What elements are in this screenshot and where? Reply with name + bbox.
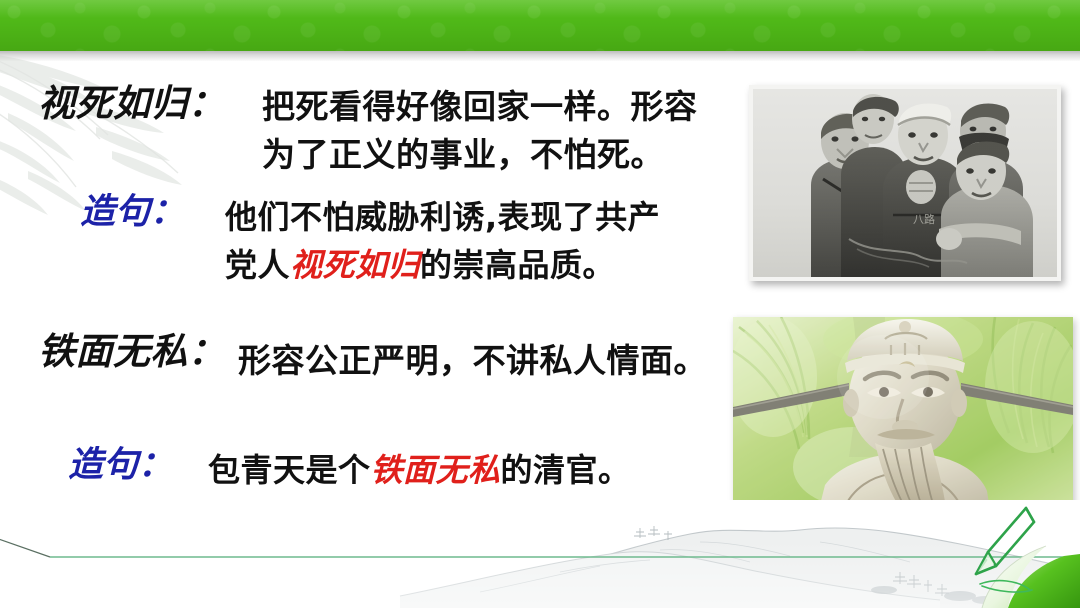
- example-2-highlight-idiom: 铁面无私: [371, 451, 501, 489]
- example-1-text-c: 表现了共产: [498, 198, 661, 236]
- banner-shine: [0, 0, 1080, 18]
- example-sentence-1-line-1: 他们不怕威胁利诱,表现了共产: [225, 192, 660, 242]
- example-label-2: 造句：: [68, 443, 173, 487]
- slide-root: 视死如归： 把死看得好像回家一样。形容 为了正义的事业，不怕死。 造句： 他们不…: [0, 0, 1080, 608]
- top-green-banner: [0, 0, 1080, 51]
- idiom-term-1: 视死如归：: [38, 82, 226, 126]
- example-1-text-a: 他们不怕威胁利诱: [225, 198, 485, 236]
- example-1-comma: ,: [485, 198, 498, 236]
- example-1-text-d: 党人: [225, 246, 290, 284]
- example-1-highlight-idiom: 视死如归: [290, 246, 420, 284]
- idiom-definition-2: 形容公正严明，不讲私人情面。: [238, 336, 707, 386]
- example-2-text-b: 的清官。: [501, 451, 631, 489]
- example-sentence-2: 包青天是个铁面无私的清官。: [208, 445, 631, 495]
- example-2-text-a: 包青天是个: [208, 451, 371, 489]
- example-1-text-e: 的崇高品质。: [420, 246, 615, 284]
- idiom-definition-1-line-2: 为了正义的事业，不怕死。: [262, 130, 664, 180]
- historic-soldiers-photo: 八路: [749, 85, 1061, 281]
- banner-silver-strip: [0, 51, 1080, 61]
- idiom-term-2: 铁面无私：: [38, 330, 226, 374]
- example-sentence-1-line-2: 党人视死如归的崇高品质。: [225, 240, 615, 290]
- idiom-definition-1-line-1: 把死看得好像回家一样。形容: [262, 82, 698, 132]
- example-label-1: 造句：: [80, 190, 185, 234]
- bao-qingtian-statue-photo: [733, 317, 1073, 517]
